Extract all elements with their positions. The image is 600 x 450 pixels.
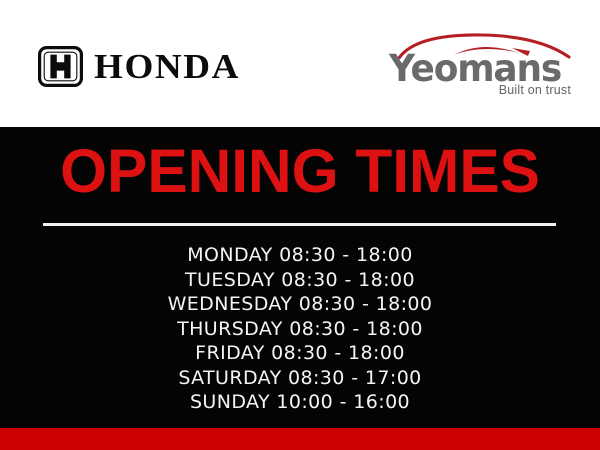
hours-row: FRIDAY 08:30 - 18:00 [0,341,600,366]
yeomans-wordmark: Yeomans [389,50,561,87]
bottom-accent-bar [0,428,600,450]
hours-row: THURSDAY 08:30 - 18:00 [0,317,600,342]
honda-wordmark: HONDA [94,49,240,84]
title-divider [43,223,556,226]
yeomans-logo-lockup: Yeomans Built on trust [389,33,574,98]
honda-logo-lockup: HONDA [38,46,232,87]
hours-row: SUNDAY 10:00 - 16:00 [0,390,600,415]
honda-h-emblem-icon [38,46,83,87]
hours-row: SATURDAY 08:30 - 17:00 [0,366,600,391]
page-title: OPENING TIMES [3,140,597,202]
hours-row: TUESDAY 08:30 - 18:00 [0,268,600,293]
hours-row: WEDNESDAY 08:30 - 18:00 [0,292,600,317]
yeomans-tagline: Built on trust [499,83,571,97]
hours-row: MONDAY 08:30 - 18:00 [0,243,600,268]
logo-band: HONDA Yeomans Built on trust [0,0,600,127]
opening-hours-list: MONDAY 08:30 - 18:00 TUESDAY 08:30 - 18:… [0,243,600,415]
opening-times-poster: HONDA Yeomans Built on trust OPENING TIM… [0,0,600,450]
